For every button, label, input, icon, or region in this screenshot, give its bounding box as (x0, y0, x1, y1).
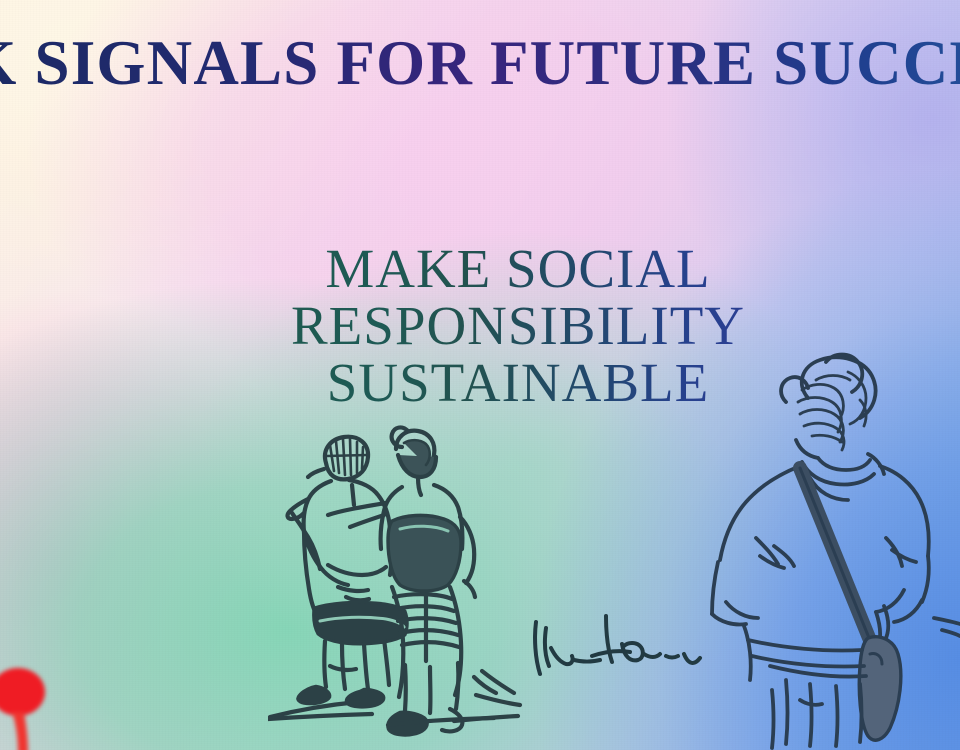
banner-canvas: K SIGNALS FOR FUTURE SUCCE MAKE SOCIAL R… (0, 0, 960, 750)
artist-signature (522, 612, 722, 682)
headline-text: K SIGNALS FOR FUTURE SUCCE (0, 26, 960, 100)
slogan-line-1: MAKE SOCIAL (268, 240, 768, 297)
red-pushpin (0, 666, 60, 750)
headline-band: K SIGNALS FOR FUTURE SUCCE (0, 26, 960, 100)
two-people-standing-sketch (268, 425, 548, 750)
slogan-line-3: SUSTAINABLE (268, 354, 768, 411)
slogan-block: MAKE SOCIAL RESPONSIBILITY SUSTAINABLE (268, 240, 768, 411)
slogan-line-2: RESPONSIBILITY (268, 297, 768, 354)
